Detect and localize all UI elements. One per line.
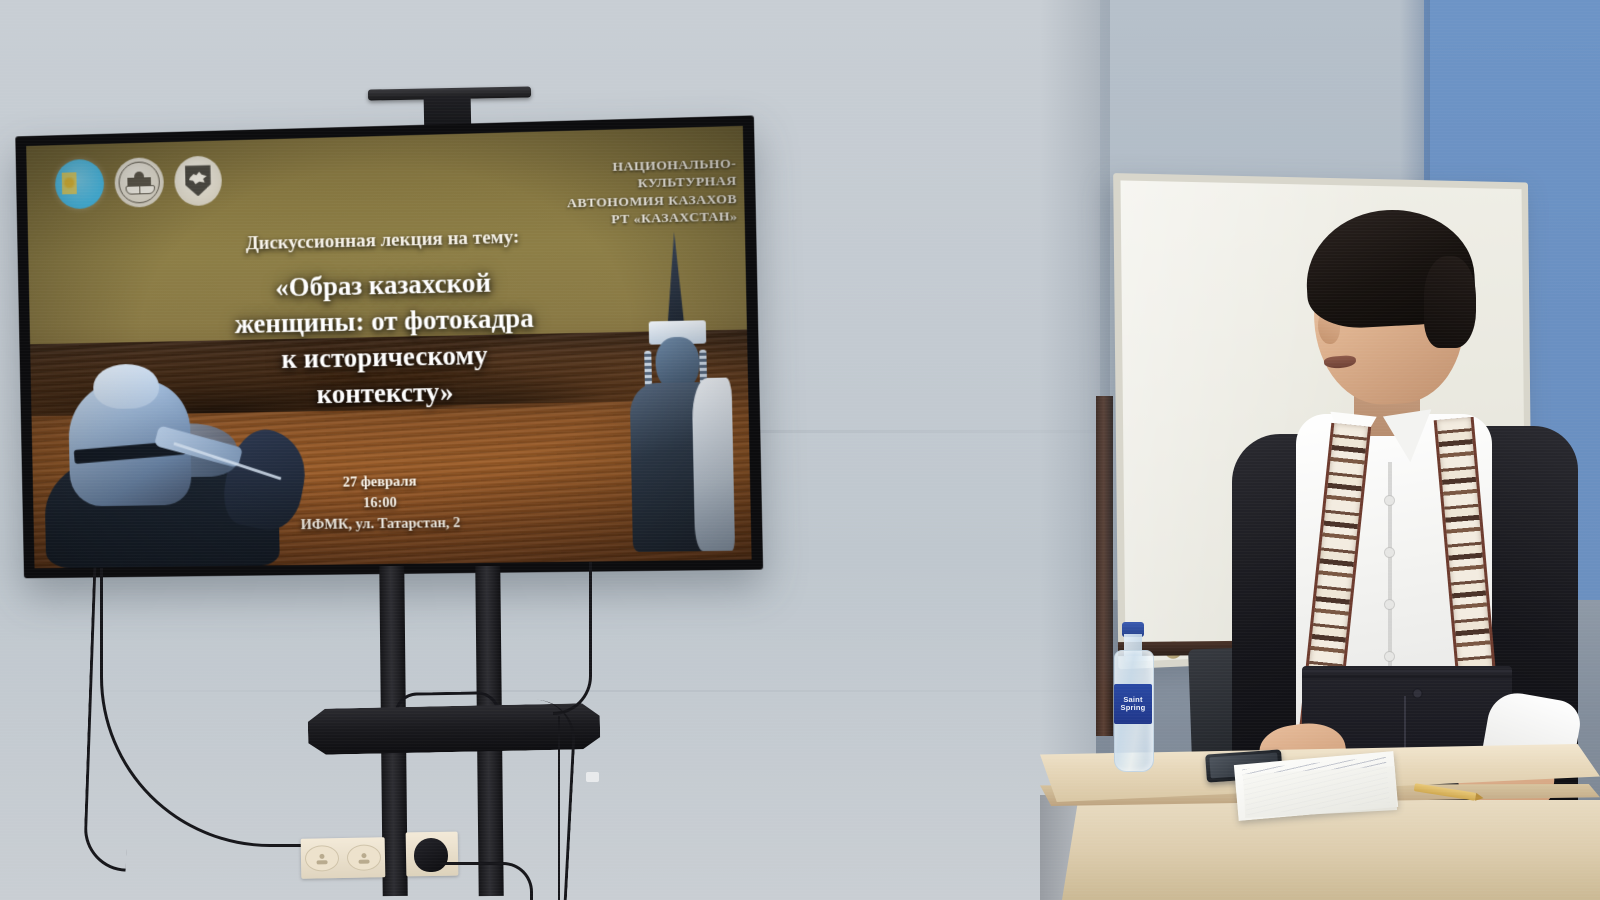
whiteboard-leg [1096,396,1113,736]
kazan-federal-university-emblem-icon [174,155,222,206]
shirt-button-2 [1385,548,1394,557]
shirt-button-3 [1385,600,1394,609]
slide-time: 16:00 [300,492,460,515]
slide-title: «Образ казахской женщины: от фотокадра к… [120,260,653,416]
winged-leopard-icon [189,170,207,186]
bride-veil [691,378,734,552]
shield-icon [185,165,211,196]
seal-building-icon [125,171,153,194]
waistband [1302,670,1512,678]
plug-cord [440,862,533,900]
presentation-display[interactable]: НАЦИОНАЛЬНО- КУЛЬТУРНАЯ АВТОНОМИЯ КАЗАХО… [15,115,763,578]
hair-side [1424,256,1476,348]
slide-screen: НАЦИОНАЛЬНО- КУЛЬТУРНАЯ АВТОНОМИЯ КАЗАХО… [26,126,751,568]
outlet-socket-b[interactable] [347,844,381,871]
slide-date: 27 февраля [300,471,460,494]
cable-right-a [553,562,592,715]
bottle-brand-text: Saint Spring [1114,696,1152,713]
cable-right-c [558,716,590,900]
slide-organization-block: НАЦИОНАЛЬНО- КУЛЬТУРНАЯ АВТОНОМИЯ КАЗАХО… [566,154,737,229]
slide-footer: 27 февраля 16:00 ИФМК, ул. Татарстан, 2 [300,471,461,536]
shirt-button-1 [1385,496,1394,505]
lecture-room-photo: НАЦИОНАЛЬНО- КУЛЬТУРНАЯ АВТОНОМИЯ КАЗАХО… [0,0,1600,900]
university-seal-emblem-icon [114,157,164,208]
shirt-button-4 [1385,652,1394,661]
cable-clip [586,772,599,782]
water-bottle[interactable]: Saint Spring [1112,622,1154,770]
bottle-label: Saint Spring [1114,684,1152,724]
double-wall-outlet[interactable] [301,837,386,878]
desk-front-panel [1062,800,1600,900]
kazakhstan-flag-emblem-icon [54,159,104,210]
flag-sun-icon [61,172,76,194]
slide-logo-row [54,155,222,209]
trouser-button [1412,688,1423,699]
presenter [1236,196,1576,816]
papers-under-sheet [1243,766,1397,818]
outlet-socket-a[interactable] [305,845,339,872]
slide-venue: ИФМК, ул. Татарстан, 2 [300,513,460,536]
saukele-headdress [658,231,693,328]
